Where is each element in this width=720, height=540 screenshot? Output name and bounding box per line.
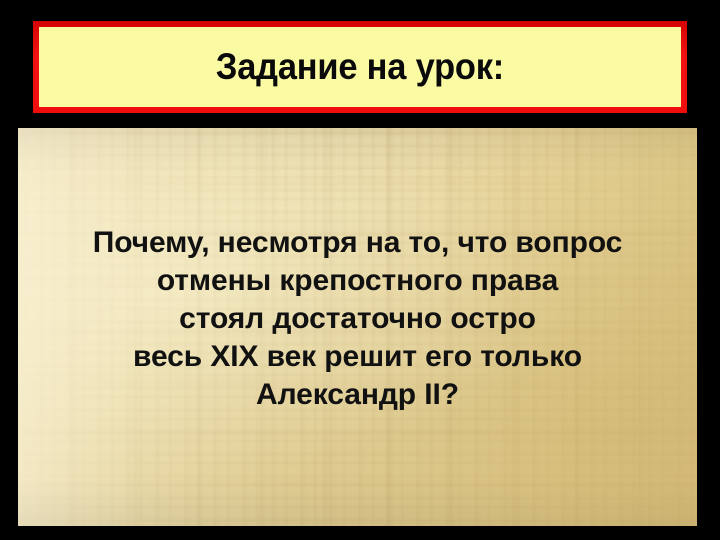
question-line-3: стоял достаточно остро [18,300,697,338]
question-line-1: Почему, несмотря на то, что вопрос [18,224,697,262]
question-line-2: отмены крепостного права [18,262,697,300]
title-banner-fill: Задание на урок: [39,27,681,107]
question-text-block: Почему, несмотря на то, что вопрос отмен… [18,224,697,414]
papyrus-panel: Почему, несмотря на то, что вопрос отмен… [18,128,697,526]
page-title: Задание на урок: [216,48,504,87]
question-line-5: Александр II? [18,376,697,414]
title-banner: Задание на урок: [33,21,687,113]
slide-canvas: Задание на урок: Почему, несмотря на то,… [0,0,720,540]
question-line-4: весь XIX век решит его только [18,338,697,376]
